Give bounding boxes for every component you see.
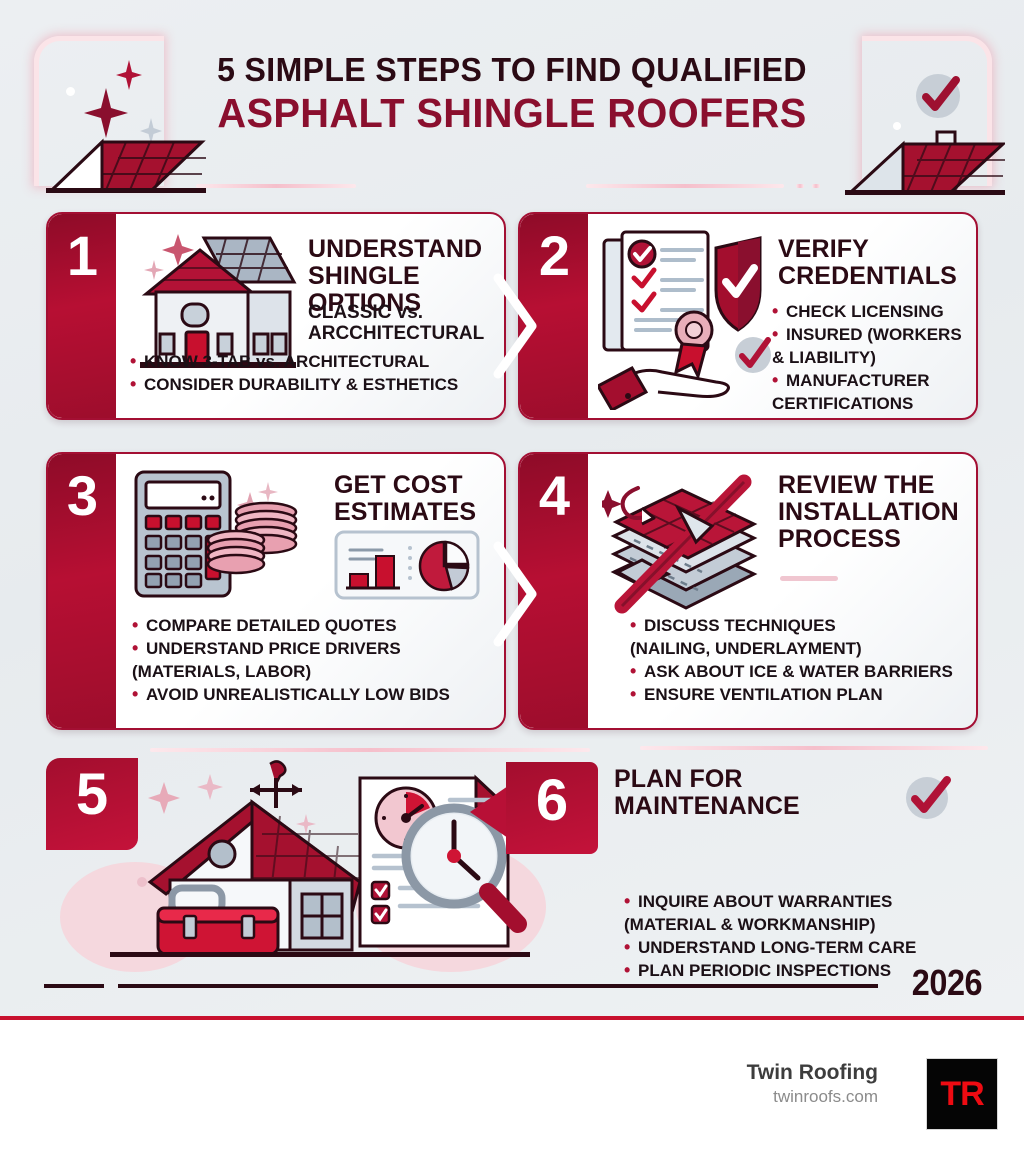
calculator-coins-chart-icon (132, 468, 352, 608)
bullet-item-cont: CERTIFICATIONS (772, 394, 978, 414)
step-number: 1 (48, 228, 116, 284)
bullet-item-cont: (NAILING, UNDERLAYMENT) (630, 639, 978, 659)
bullet-item: ASK ABOUT ICE & WATER BARRIERS (630, 662, 978, 682)
bullet-item-cont: & LIABILITY) (772, 348, 978, 368)
bullet-item: INQUIRE ABOUT WARRANTIES (624, 892, 954, 912)
card-body: 2 (518, 212, 978, 420)
chevron-right-icon (492, 272, 538, 385)
year-label: 2026 (912, 962, 982, 1004)
check-circle-icon (902, 770, 956, 824)
step-number: 3 (48, 468, 116, 524)
step-title: PLAN FOR MAINTENANCE (614, 766, 894, 820)
step-title: REVIEW THE INSTALLATION PROCESS (778, 472, 978, 553)
arrow-left-icon (470, 786, 508, 838)
step-bullets: CHECK LICENSING INSURED (WORKERS & LIABI… (772, 302, 978, 417)
card-body: 1 (46, 212, 506, 420)
header-rule (586, 184, 784, 188)
card-content: UNDERSTAND SHINGLE OPTIONS CLASSIC vs. A… (116, 214, 504, 418)
check-circle-icon (730, 332, 776, 378)
card-content: GET COST ESTIMATES COMPARE DETAILED QUOT… (116, 454, 504, 728)
footer: Twin Roofing twinroofs.com TR (0, 1024, 1024, 1154)
row-connector-rule (150, 748, 590, 752)
step-card-3[interactable]: 3 (46, 452, 506, 730)
bullet-item: CONSIDER DURABILITY & ESTHETICS (130, 375, 506, 395)
infographic-poster: 5 SIMPLE STEPS TO FIND QUALIFIED ASPHALT… (0, 0, 1024, 1020)
bullet-item: CHECK LICENSING (772, 302, 978, 322)
bullet-item: KNOW 3-TAB vs. ARCHITECTURAL (130, 352, 506, 372)
card-content: REVIEW THE INSTALLATION PROCESS DISCUSS … (588, 454, 976, 728)
title-line-1: 5 SIMPLE STEPS TO FIND QUALIFIED (15, 52, 1008, 88)
step-card-4[interactable]: 4 (518, 452, 978, 730)
bullet-item: DISCUSS TECHNIQUES (630, 616, 978, 636)
step-subtitle: CLASSIC vs. ARCCHITECTURAL (308, 302, 506, 345)
step-bullets: INQUIRE ABOUT WARRANTIES (MATERIAL & WOR… (624, 892, 954, 981)
bullet-item: UNDERSTAND PRICE DRIVERS (132, 639, 506, 659)
brand-block: Twin Roofing twinroofs.com (747, 1060, 878, 1108)
footer-rule-short (44, 984, 104, 988)
step-card-1[interactable]: 1 (46, 212, 506, 420)
chevron-right-icon (492, 540, 538, 653)
bullet-item: INSURED (WORKERS (772, 325, 978, 345)
bullet-item: PLAN PERIODIC INSPECTIONS (624, 961, 954, 981)
step-number: 5 (46, 766, 138, 824)
step-card-2[interactable]: 2 (518, 212, 978, 420)
bullet-item: UNDERSTAND LONG-TERM CARE (624, 938, 954, 958)
header-rule-dot (796, 184, 804, 188)
step-number-badge-5: 5 (46, 758, 138, 850)
card-body: 4 (518, 452, 978, 730)
step-number-badge-6: 6 (506, 762, 598, 854)
header: 5 SIMPLE STEPS TO FIND QUALIFIED ASPHALT… (0, 0, 1024, 200)
step-number: 4 (520, 468, 588, 524)
card-content: VERIFY CREDENTIALS CHECK LICENSING INSUR… (588, 214, 976, 418)
step-title: VERIFY CREDENTIALS (778, 236, 978, 290)
brand-url[interactable]: twinroofs.com (747, 1086, 878, 1108)
roof-shingle-icon (46, 138, 206, 199)
bullet-item: AVOID UNREALISTICALLY LOW BIDS (132, 685, 506, 705)
certificate-shield-hand-icon (598, 226, 798, 410)
mini-chart-panel (334, 530, 480, 600)
header-rule-dot (812, 184, 820, 188)
house-toolbox-inspection-icon (110, 760, 530, 960)
header-rule (196, 184, 356, 188)
bullet-item: MANUFACTURER (772, 371, 978, 391)
title-underline (780, 576, 838, 581)
bullet-item-cont: (MATERIAL & WORKMANSHIP) (624, 915, 954, 935)
brand-logo: TR (926, 1058, 998, 1130)
step-card-6[interactable]: PLAN FOR MAINTENANCE INQUIRE ABOUT WARRA… (614, 766, 954, 912)
step-bullets: COMPARE DETAILED QUOTES UNDERSTAND PRICE… (132, 616, 506, 708)
step-title: GET COST ESTIMATES (334, 472, 506, 526)
roof-chimney-icon (845, 128, 1005, 203)
step-number: 6 (506, 772, 598, 830)
title-block: 5 SIMPLE STEPS TO FIND QUALIFIED ASPHALT… (0, 52, 1024, 136)
brand-name: Twin Roofing (747, 1060, 878, 1086)
row-connector-rule (640, 746, 988, 750)
bullet-item: ENSURE VENTILATION PLAN (630, 685, 978, 705)
step-bullets: DISCUSS TECHNIQUES (NAILING, UNDERLAYMEN… (630, 616, 978, 708)
step-bullets: KNOW 3-TAB vs. ARCHITECTURAL CONSIDER DU… (130, 352, 506, 398)
bullet-item: COMPARE DETAILED QUOTES (132, 616, 506, 636)
title-line-2: ASPHALT SHINGLE ROOFERS (15, 91, 1008, 136)
footer-rule-long (118, 984, 878, 988)
card-body: 3 (46, 452, 506, 730)
logo-text: TR (940, 1075, 983, 1114)
roof-layers-trowel-icon (602, 466, 772, 616)
bullet-item-cont: (MATERIALS, LABOR) (132, 662, 506, 682)
